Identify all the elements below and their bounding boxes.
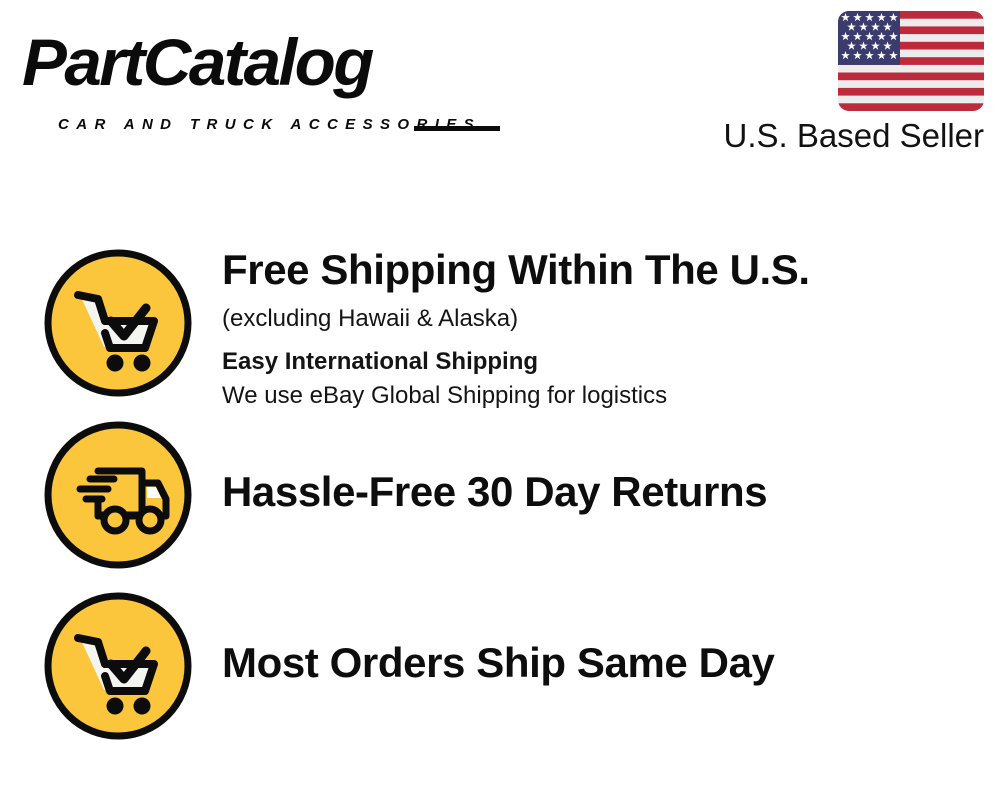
feature-line-ebay-global-shipping: We use eBay Global Shipping for logistic… <box>222 379 962 412</box>
us-based-seller-label: U.S. Based Seller <box>520 116 984 156</box>
feature-title: Free Shipping Within The U.S. <box>222 245 962 295</box>
feature-text-block: Most Orders Ship Same Day <box>222 638 962 688</box>
shopping-cart-check-icon <box>42 590 194 742</box>
feature-line-excluding: (excluding Hawaii & Alaska) <box>222 302 962 335</box>
feature-row: Hassle-Free 30 Day Returns <box>0 419 1000 579</box>
feature-title: Most Orders Ship Same Day <box>222 638 962 688</box>
us-flag-icon <box>838 11 984 111</box>
feature-line-international-shipping: Easy International Shipping <box>222 345 962 378</box>
delivery-truck-icon <box>42 419 194 571</box>
brand-logo[interactable]: PartCatalog CAR AND TRUCK ACCESSORIES <box>22 26 492 116</box>
brand-underline-rule <box>414 126 500 131</box>
shopping-cart-check-icon <box>42 247 194 399</box>
brand-tagline: CAR AND TRUCK ACCESSORIES <box>58 116 481 134</box>
feature-row: Free Shipping Within The U.S. (excluding… <box>0 247 1000 407</box>
feature-text-block: Free Shipping Within The U.S. (excluding… <box>222 247 962 412</box>
feature-text-block: Hassle-Free 30 Day Returns <box>222 467 962 517</box>
brand-wordmark: PartCatalog <box>22 26 372 98</box>
feature-row: Most Orders Ship Same Day <box>0 590 1000 750</box>
page-header: PartCatalog CAR AND TRUCK ACCESSORIES <box>0 0 1000 175</box>
feature-title: Hassle-Free 30 Day Returns <box>222 467 962 517</box>
